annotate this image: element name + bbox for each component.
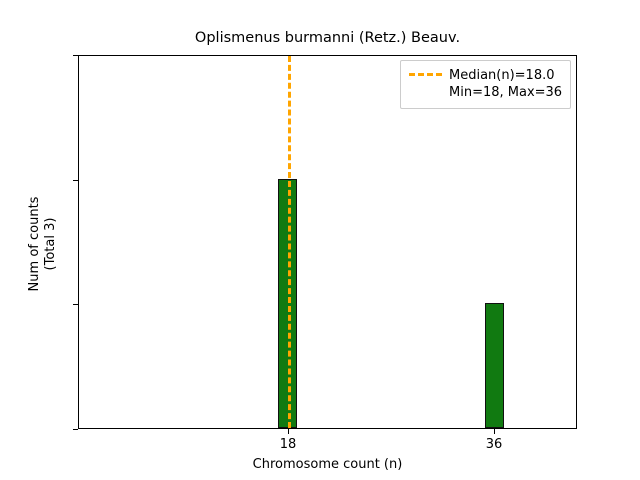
- x-tick-label-18: 18: [258, 437, 318, 452]
- legend-median-line-icon: [409, 73, 442, 76]
- x-tick-label-36: 36: [464, 437, 524, 452]
- median-line: [288, 56, 291, 428]
- chart-figure: Oplismenus burmanni (Retz.) Beauv. 3 2 1…: [0, 0, 640, 480]
- bar-36[interactable]: [485, 303, 504, 428]
- x-tick-mark-36: [494, 429, 495, 434]
- y-axis-label-wrapper: Num of counts (Total 3): [25, 57, 61, 431]
- legend[interactable]: Median(n)=18.0 Min=18, Max=36: [400, 60, 571, 109]
- legend-label: Median(n)=18.0 Min=18, Max=36: [449, 67, 562, 101]
- plot-area: [78, 55, 577, 429]
- y-axis-label: Num of counts (Total 3): [27, 197, 59, 292]
- x-tick-mark-18: [288, 429, 289, 434]
- x-axis-label: Chromosome count (n): [78, 457, 577, 472]
